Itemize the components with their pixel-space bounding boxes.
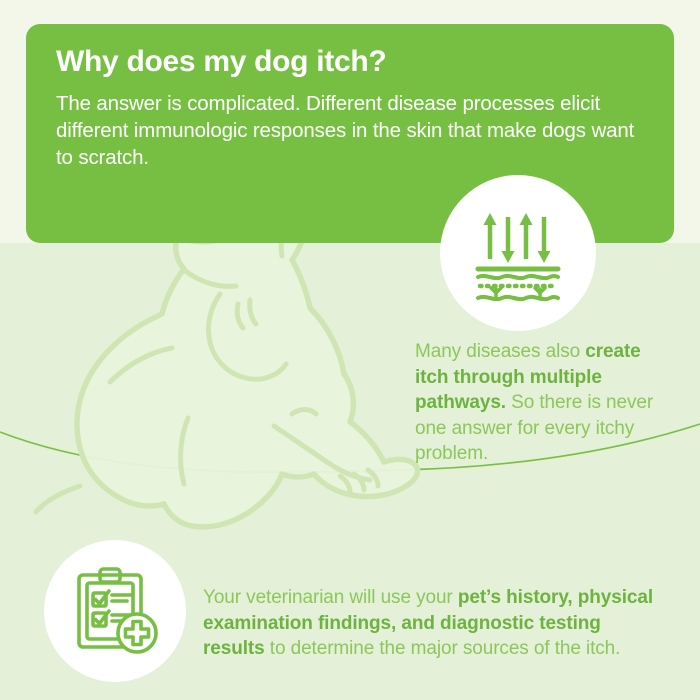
pathways-lead: Many diseases also — [415, 341, 585, 362]
pathways-paragraph: Many diseases also create itch through m… — [415, 339, 655, 467]
clipboard-icon-circle — [44, 540, 186, 682]
infographic-root: Why does my dog itch? The answer is comp… — [0, 0, 700, 700]
page-title: Why does my dog itch? — [56, 44, 644, 80]
vet-lead: Your veterinarian will use your — [203, 587, 458, 608]
clipboard-checklist-medical-icon — [67, 563, 163, 659]
vet-paragraph: Your veterinarian will use your pet’s hi… — [203, 585, 653, 662]
skin-barrier-arrows-icon — [468, 203, 568, 303]
vet-tail: to determine the major sources of the it… — [265, 638, 621, 659]
header-subtitle: The answer is complicated. Different dis… — [56, 90, 644, 171]
skin-barrier-icon-circle — [440, 175, 596, 331]
